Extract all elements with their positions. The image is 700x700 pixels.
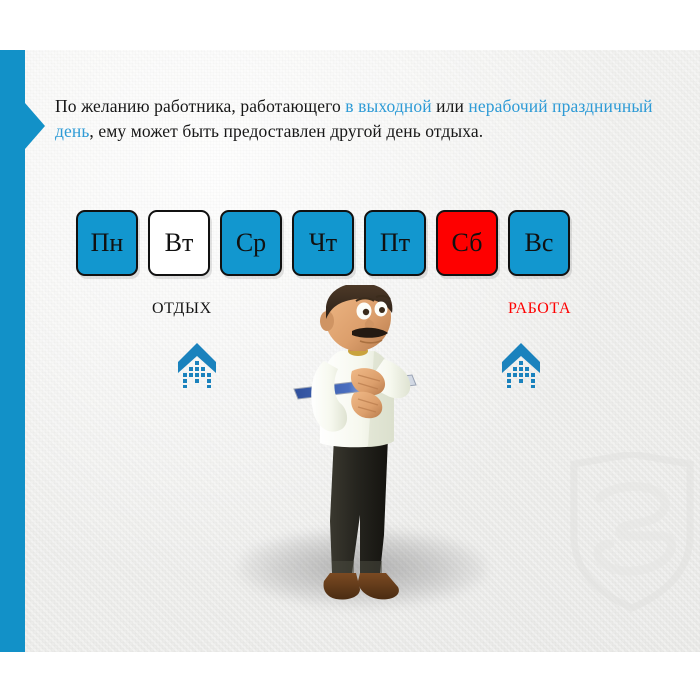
- arrow-up-icon-work: [500, 340, 542, 388]
- day-box-mon[interactable]: Пн: [76, 210, 138, 276]
- paragraph-text-3: , ему может быть предоставлен другой ден…: [89, 121, 483, 141]
- day-box-wed[interactable]: Ср: [220, 210, 282, 276]
- shield-logo-watermark: [566, 452, 698, 612]
- day-box-sun[interactable]: Вс: [508, 210, 570, 276]
- day-box-sat[interactable]: Сб: [436, 210, 498, 276]
- cartoon-man-illustration: [268, 285, 454, 615]
- paragraph-text-2: или: [432, 96, 469, 116]
- slide-paragraph: По желанию работника, работающего в выхо…: [55, 94, 670, 144]
- screenshot-canvas: По желанию работника, работающего в выхо…: [0, 0, 700, 700]
- caption-rest: ОТДЫХ: [152, 300, 212, 318]
- caption-work: РАБОТА: [508, 300, 571, 318]
- day-box-thu[interactable]: Чт: [292, 210, 354, 276]
- arrow-up-icon-rest: [176, 340, 218, 388]
- slide-canvas: По желанию работника, работающего в выхо…: [0, 50, 700, 652]
- accent-pointer-tab: [25, 103, 45, 149]
- day-box-tue[interactable]: Вт: [148, 210, 210, 276]
- paragraph-text-1: По желанию работника, работающего: [55, 96, 345, 116]
- day-box-fri[interactable]: Пт: [364, 210, 426, 276]
- week-days-strip: Пн Вт Ср Чт Пт Сб Вс: [76, 210, 570, 276]
- left-accent-bar: [0, 50, 25, 652]
- paragraph-highlight-1: в выходной: [345, 96, 431, 116]
